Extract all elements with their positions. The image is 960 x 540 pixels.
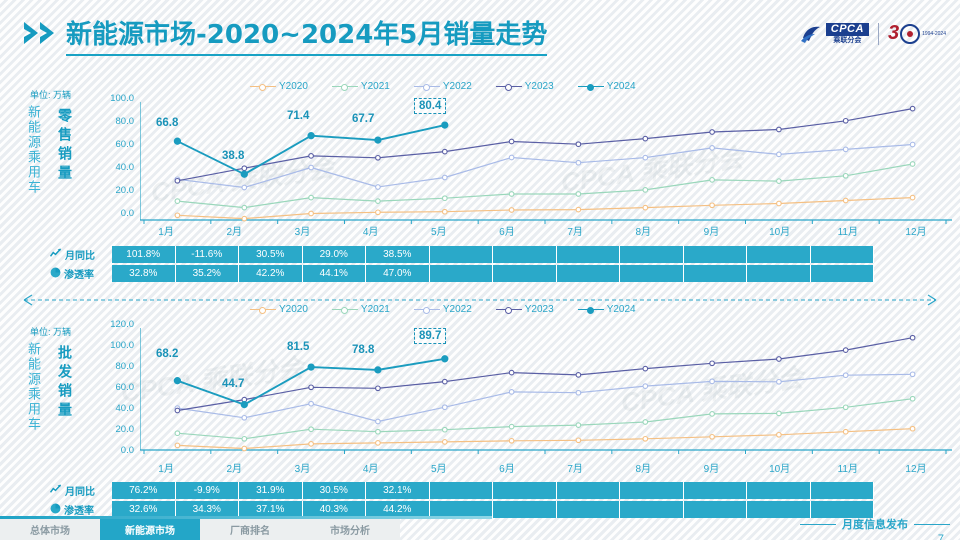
ytick-retail-4: 80.0: [82, 116, 134, 127]
xtick-10: 10月: [746, 460, 814, 475]
ytick-retail-1: 20.0: [82, 185, 134, 196]
table-cell: [493, 482, 557, 499]
table-row: 渗透率32.8%35.2%42.2%44.1%47.0%: [50, 265, 874, 282]
xtick-10: 10月: [746, 223, 814, 238]
datalabel-retail-4: 67.7: [352, 113, 374, 125]
page-header: 新能源市场-2020~2024年5月销量走势 CPCA 乘联分会 3 1994-…: [0, 8, 960, 56]
table-cell: [811, 246, 875, 263]
legend-label-y2024: Y2024: [607, 304, 636, 315]
row-header: 月同比: [50, 482, 112, 499]
table-cell: 76.2%: [112, 482, 176, 499]
table-cell: 32.8%: [112, 265, 176, 282]
table-cell: 31.9%: [239, 482, 303, 499]
ytick-wholesale-6: 120.0: [78, 319, 134, 330]
legend-swatch-y2023: [496, 309, 522, 310]
legend-item-y2022[interactable]: Y2022: [414, 81, 472, 92]
xtick-3: 3月: [268, 460, 336, 475]
legend-item-y2023[interactable]: Y2023: [496, 304, 554, 315]
legend-swatch-y2024: [578, 86, 604, 87]
legend-label-y2023: Y2023: [525, 304, 554, 315]
legend-wholesale: Y2020 Y2021 Y2022 Y2023 Y2024: [250, 304, 636, 315]
page-title: 新能源市场-2020~2024年5月销量走势: [66, 14, 547, 56]
line-chart-icon: [50, 484, 62, 498]
xtick-1: 1月: [132, 460, 200, 475]
xtick-6: 6月: [473, 223, 541, 238]
xtick-2: 2月: [200, 223, 268, 238]
table-cell: [430, 265, 494, 282]
footer-tab-3[interactable]: 市场分析: [300, 519, 400, 540]
legend-swatch-y2021: [332, 86, 358, 87]
table-cell: 30.5%: [239, 246, 303, 263]
unit-label-retail: 单位: 万辆: [30, 88, 71, 101]
legend-label-y2021: Y2021: [361, 304, 390, 315]
metric-label-retail: 零售销量: [57, 108, 71, 184]
logo-divider: [878, 23, 879, 45]
anniversary-ring-icon: [900, 24, 920, 44]
cpca-wordmark: CPCA: [826, 23, 869, 36]
table-row: 月同比101.8%-11.6%30.5%29.0%38.5%: [50, 246, 874, 263]
xtick-5: 5月: [405, 223, 473, 238]
ytick-retail-5: 100.0: [82, 93, 134, 104]
xtick-3: 3月: [268, 223, 336, 238]
legend-item-y2020[interactable]: Y2020: [250, 304, 308, 315]
row-label: 渗透率: [64, 266, 94, 281]
table-cell: [620, 482, 684, 499]
table-cell: 38.5%: [366, 246, 430, 263]
table-cell: [747, 265, 811, 282]
table-cell: 47.0%: [366, 265, 430, 282]
table-cell: [557, 265, 621, 282]
legend-swatch-y2024: [578, 309, 604, 310]
table-cell: [811, 482, 875, 499]
legend-swatch-y2020: [250, 86, 276, 87]
table-cell: 30.5%: [303, 482, 367, 499]
legend-swatch-y2020: [250, 309, 276, 310]
table-cell: -11.6%: [176, 246, 240, 263]
table-cell: [493, 246, 557, 263]
xtick-8: 8月: [609, 223, 677, 238]
table-cell: [684, 482, 748, 499]
cpca-emblem-icon: [800, 24, 822, 44]
chart-retail[interactable]: [140, 98, 952, 224]
legend-swatch-y2022: [414, 309, 440, 310]
table-cell: 44.1%: [303, 265, 367, 282]
row-label: 月同比: [65, 247, 95, 262]
legend-label-y2021: Y2021: [361, 81, 390, 92]
page-number: 7: [938, 533, 944, 540]
row-label: 渗透率: [64, 502, 94, 517]
footer-tabs: 总体市场新能源市场厂商排名市场分析: [0, 519, 400, 540]
pie-chart-icon: [50, 503, 61, 517]
legend-item-y2024[interactable]: Y2024: [578, 304, 636, 315]
datalabel-wholesale-2: 44.7: [222, 378, 244, 390]
datalabel-retail-1: 66.8: [156, 117, 178, 129]
footer-tab-0[interactable]: 总体市场: [0, 519, 100, 540]
legend-retail: Y2020 Y2021 Y2022 Y2023 Y2024: [250, 81, 636, 92]
row-header: 渗透率: [50, 265, 112, 282]
legend-label-y2022: Y2022: [443, 304, 472, 315]
legend-item-y2021[interactable]: Y2021: [332, 81, 390, 92]
xtick-11: 11月: [814, 460, 882, 475]
ytick-wholesale-2: 40.0: [78, 403, 134, 414]
table-cell: [557, 246, 621, 263]
datalabel-retail-2: 38.8: [222, 150, 244, 162]
chart-wholesale[interactable]: [140, 324, 952, 454]
table-cell: [620, 246, 684, 263]
xtick-8: 8月: [609, 460, 677, 475]
xtick-4: 4月: [337, 223, 405, 238]
xtick-12: 12月: [882, 460, 950, 475]
xtick-1: 1月: [132, 223, 200, 238]
table-cell: 29.0%: [303, 246, 367, 263]
table-cell: -9.9%: [176, 482, 240, 499]
table-cell: [493, 265, 557, 282]
anniversary-years: 1994-2024: [922, 31, 946, 37]
footer-brand-text: 月度信息发布: [842, 516, 908, 532]
ytick-wholesale-3: 60.0: [78, 382, 134, 393]
table-cell: [684, 265, 748, 282]
xtick-6: 6月: [473, 460, 541, 475]
ytick-retail-0: 0.0: [82, 208, 134, 219]
table-cell: [684, 246, 748, 263]
page-title-text: 新能源市场-2020~2024年5月销量走势: [66, 14, 547, 51]
category-label-retail: 新能源乘用车: [26, 105, 39, 195]
legend-label-y2020: Y2020: [279, 81, 308, 92]
anniversary-badge: 3 1994-2024: [888, 22, 946, 45]
anniversary-number: 3: [888, 22, 899, 45]
table-cell: [747, 482, 811, 499]
ytick-wholesale-0: 0.0: [78, 445, 134, 456]
table-cell: 42.2%: [239, 265, 303, 282]
xtick-2: 2月: [200, 460, 268, 475]
table-cell: 101.8%: [112, 246, 176, 263]
footer-brand: 月度信息发布: [800, 516, 950, 532]
datalabel-wholesale-4: 78.8: [352, 344, 374, 356]
cpca-subtitle: 乘联分会: [833, 37, 861, 44]
ytick-retail-3: 60.0: [82, 139, 134, 150]
ytick-wholesale-5: 100.0: [78, 340, 134, 351]
xtick-5: 5月: [405, 460, 473, 475]
legend-label-y2022: Y2022: [443, 81, 472, 92]
datalabel-retail-3: 71.4: [287, 110, 309, 122]
xtick-9: 9月: [677, 223, 745, 238]
line-chart-icon: [50, 248, 62, 262]
legend-label-y2020: Y2020: [279, 304, 308, 315]
legend-item-y2022[interactable]: Y2022: [414, 304, 472, 315]
xtick-11: 11月: [814, 223, 882, 238]
legend-item-y2023[interactable]: Y2023: [496, 81, 554, 92]
xaxis-retail: 1月 2月 3月 4月 5月 6月 7月 8月 9月 10月 11月 12月: [132, 223, 950, 238]
datalabel-wholesale-5: 89.7: [414, 328, 446, 344]
table-cell: [620, 265, 684, 282]
brand-logos: CPCA 乘联分会 3 1994-2024: [800, 22, 946, 45]
ytick-wholesale-1: 20.0: [78, 424, 134, 435]
xtick-7: 7月: [541, 223, 609, 238]
table-cell: [430, 482, 494, 499]
footer-bar-right: [914, 524, 950, 525]
footer-tab-2[interactable]: 厂商排名: [200, 519, 300, 540]
datalabel-retail-5: 80.4: [414, 98, 446, 114]
ytick-retail-2: 40.0: [82, 162, 134, 173]
xaxis-wholesale: 1月 2月 3月 4月 5月 6月 7月 8月 9月 10月 11月 12月: [132, 460, 950, 475]
table-cell: [430, 246, 494, 263]
table-cell: 35.2%: [176, 265, 240, 282]
xtick-7: 7月: [541, 460, 609, 475]
legend-swatch-y2023: [496, 86, 522, 87]
unit-label-wholesale: 单位: 万辆: [30, 325, 71, 338]
data-table-retail: 月同比101.8%-11.6%30.5%29.0%38.5%渗透率32.8%35…: [50, 246, 874, 284]
xtick-12: 12月: [882, 223, 950, 238]
footer-right: 月度信息发布 7: [800, 516, 950, 540]
legend-swatch-y2022: [414, 86, 440, 87]
legend-item-y2021[interactable]: Y2021: [332, 304, 390, 315]
double-chevron-right-icon: [22, 20, 62, 46]
page-footer: 总体市场新能源市场厂商排名市场分析 月度信息发布 7: [0, 516, 960, 540]
ytick-wholesale-4: 80.0: [78, 361, 134, 372]
section-wholesale: 单位: 万辆 新能源乘用车 批发销量 Y2020 Y2021 Y2022 Y20…: [0, 300, 960, 515]
pie-chart-icon: [50, 267, 61, 281]
table-cell: [557, 482, 621, 499]
row-label: 月同比: [65, 483, 95, 498]
footer-tab-1[interactable]: 新能源市场: [100, 519, 200, 540]
category-label-wholesale: 新能源乘用车: [26, 342, 39, 432]
data-table-wholesale: 月同比76.2%-9.9%31.9%30.5%32.1%渗透率32.6%34.3…: [50, 482, 874, 520]
legend-label-y2024: Y2024: [607, 81, 636, 92]
section-retail: 单位: 万辆 新能源乘用车 零售销量 Y2020 Y2021 Y2022 Y20…: [0, 60, 960, 290]
cpca-logo: CPCA 乘联分会: [800, 23, 869, 44]
row-header: 月同比: [50, 246, 112, 263]
legend-item-y2020[interactable]: Y2020: [250, 81, 308, 92]
xtick-4: 4月: [337, 460, 405, 475]
table-cell: [747, 246, 811, 263]
table-cell: [811, 265, 875, 282]
table-cell: 32.1%: [366, 482, 430, 499]
datalabel-wholesale-3: 81.5: [287, 341, 309, 353]
xtick-9: 9月: [677, 460, 745, 475]
metric-label-wholesale: 批发销量: [57, 345, 71, 421]
table-row: 月同比76.2%-9.9%31.9%30.5%32.1%: [50, 482, 874, 499]
legend-label-y2023: Y2023: [525, 81, 554, 92]
footer-bar-left: [800, 524, 836, 525]
legend-swatch-y2021: [332, 309, 358, 310]
datalabel-wholesale-1: 68.2: [156, 348, 178, 360]
legend-item-y2024[interactable]: Y2024: [578, 81, 636, 92]
